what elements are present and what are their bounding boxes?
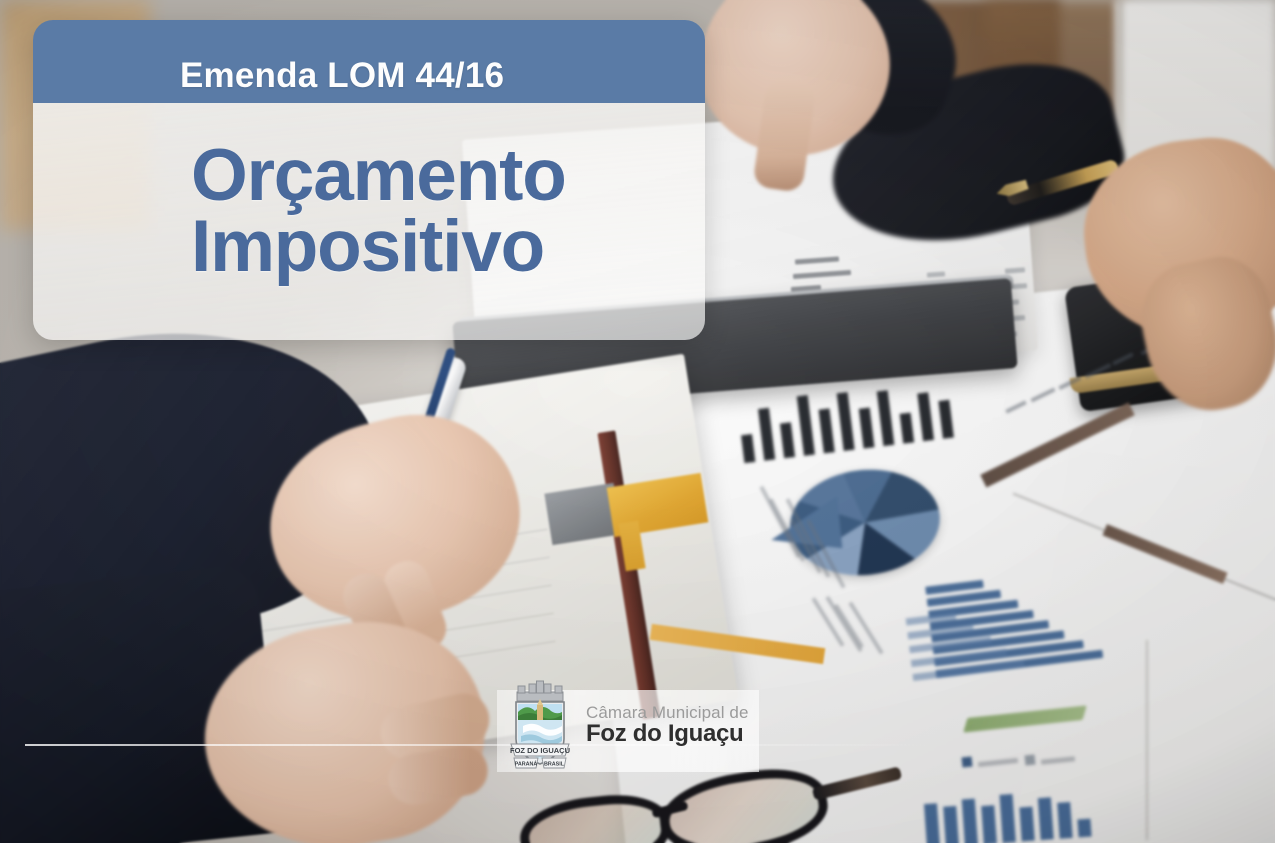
eyeglasses-left-lens (517, 789, 674, 843)
eyeglasses (520, 765, 880, 843)
amendment-label: Emenda LOM 44/16 (180, 56, 504, 96)
crest-banner-main-text: FOZ DO IGUAÇU (510, 746, 570, 755)
page-title: Orçamento Impositivo (191, 141, 566, 283)
legend-swatch (1025, 755, 1036, 766)
slide-canvas: Emenda LOM 44/16 Orçamento Impositivo (0, 0, 1275, 843)
footer-divider (25, 744, 930, 746)
title-card-body: Orçamento Impositivo (33, 103, 705, 340)
page-title-line-1: Orçamento (191, 141, 566, 212)
title-card: Emenda LOM 44/16 Orçamento Impositivo (33, 20, 705, 340)
paper-fold-line-vertical (1146, 640, 1148, 840)
crest-banner-right-text: BRASIL (544, 762, 565, 768)
crest-banner-left-text: PARANÁ (515, 761, 538, 768)
page-title-line-2: Impositivo (191, 212, 566, 283)
institution-logo: FOZ DO IGUAÇU PARANÁ BRASIL Câmara Munic… (505, 676, 761, 774)
institution-name: Câmara Municipal de Foz do Iguaçu (586, 704, 749, 747)
coat-of-arms-icon: FOZ DO IGUAÇU PARANÁ BRASIL (505, 678, 575, 772)
institution-name-line-1: Câmara Municipal de (586, 704, 749, 721)
legend-swatch (962, 757, 973, 768)
institution-name-line-2: Foz do Iguaçu (586, 722, 749, 746)
